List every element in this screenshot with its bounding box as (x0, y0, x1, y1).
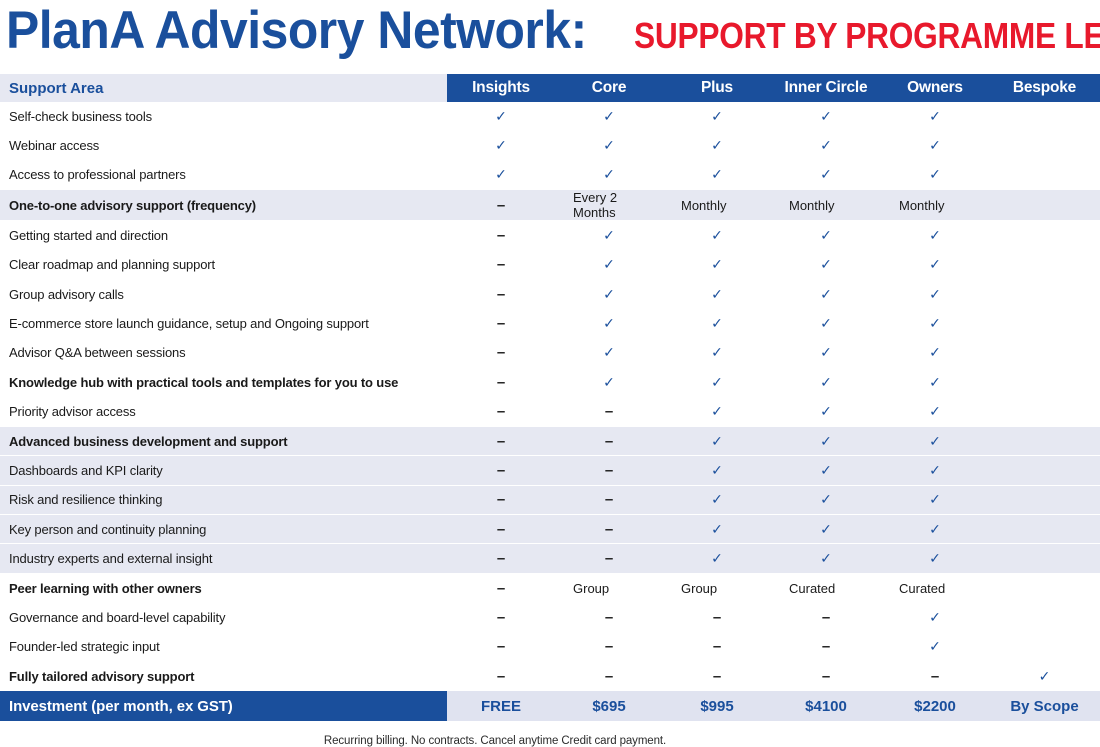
cell-inner-circle: – (771, 603, 881, 632)
row-label: Risk and resilience thinking (0, 485, 447, 514)
cell-plus: Group (663, 573, 771, 602)
check-icon: ✓ (711, 521, 723, 537)
dash-icon: – (497, 491, 505, 508)
dash-icon: – (497, 462, 505, 479)
check-icon: ✓ (820, 433, 832, 449)
check-icon: ✓ (820, 256, 832, 272)
table-row: Founder-led strategic input––––✓ (0, 632, 1100, 661)
cell-bespoke (989, 456, 1100, 485)
check-icon: ✓ (820, 108, 832, 124)
check-icon: ✓ (711, 550, 723, 566)
price-owners: $2200 (881, 691, 989, 722)
table-row: Knowledge hub with practical tools and t… (0, 368, 1100, 397)
cell-core: – (555, 603, 663, 632)
check-icon: ✓ (1039, 668, 1051, 684)
investment-row: Investment (per month, ex GST)FREE$695$9… (0, 691, 1100, 722)
column-header-inner-circle: Inner Circle (771, 74, 881, 102)
cell-inner-circle: ✓ (771, 160, 881, 189)
dash-icon: – (713, 668, 721, 685)
row-label: Knowledge hub with practical tools and t… (0, 368, 447, 397)
cell-owners: ✓ (881, 368, 989, 397)
table-row: Advisor Q&A between sessions–✓✓✓✓ (0, 338, 1100, 367)
cell-inner-circle: ✓ (771, 485, 881, 514)
check-icon: ✓ (929, 166, 941, 182)
dash-icon: – (605, 462, 613, 479)
check-icon: ✓ (929, 491, 941, 507)
row-label: Governance and board-level capability (0, 603, 447, 632)
cell-inner-circle: ✓ (771, 102, 881, 131)
check-icon: ✓ (711, 403, 723, 419)
column-header-owners: Owners (881, 74, 989, 102)
row-label: Access to professional partners (0, 160, 447, 189)
dash-icon: – (497, 256, 505, 273)
dash-icon: – (497, 344, 505, 361)
cell-core: ✓ (555, 221, 663, 250)
table-row: Risk and resilience thinking––✓✓✓ (0, 485, 1100, 514)
cell-bespoke (989, 368, 1100, 397)
cell-owners: Curated (881, 573, 989, 602)
cell-insights: – (447, 485, 555, 514)
check-icon: ✓ (820, 137, 832, 153)
cell-owners: ✓ (881, 131, 989, 160)
cell-plus: ✓ (663, 131, 771, 160)
dash-icon: – (822, 668, 830, 685)
cell-owners: ✓ (881, 544, 989, 573)
table-row: Key person and continuity planning––✓✓✓ (0, 515, 1100, 544)
cell-owners: ✓ (881, 338, 989, 367)
table-row: Fully tailored advisory support–––––✓ (0, 662, 1100, 691)
check-icon: ✓ (820, 166, 832, 182)
row-label: Fully tailored advisory support (0, 662, 447, 691)
table-row: Getting started and direction–✓✓✓✓ (0, 221, 1100, 250)
check-icon: ✓ (820, 491, 832, 507)
price-plus: $995 (663, 691, 771, 722)
dash-icon: – (822, 609, 830, 626)
check-icon: ✓ (495, 166, 507, 182)
check-icon: ✓ (603, 166, 615, 182)
dash-icon: – (497, 638, 505, 655)
table-row: Clear roadmap and planning support–✓✓✓✓ (0, 250, 1100, 279)
cell-inner-circle: ✓ (771, 221, 881, 250)
check-icon: ✓ (603, 137, 615, 153)
check-icon: ✓ (603, 315, 615, 331)
table-row: Advanced business development and suppor… (0, 426, 1100, 455)
table-row: Self-check business tools✓✓✓✓✓ (0, 102, 1100, 131)
column-header-plus: Plus (663, 74, 771, 102)
cell-core: ✓ (555, 368, 663, 397)
table-row: Dashboards and KPI clarity––✓✓✓ (0, 456, 1100, 485)
cell-core: ✓ (555, 160, 663, 189)
check-icon: ✓ (711, 227, 723, 243)
cell-insights: – (447, 279, 555, 308)
row-label: Clear roadmap and planning support (0, 250, 447, 279)
cell-core: – (555, 397, 663, 426)
cell-bespoke (989, 250, 1100, 279)
check-icon: ✓ (820, 403, 832, 419)
dash-icon: – (497, 521, 505, 538)
check-icon: ✓ (820, 286, 832, 302)
cell-plus: – (663, 632, 771, 661)
row-label: E-commerce store launch guidance, setup … (0, 309, 447, 338)
row-label: Founder-led strategic input (0, 632, 447, 661)
check-icon: ✓ (711, 256, 723, 272)
cell-owners: ✓ (881, 426, 989, 455)
check-icon: ✓ (929, 374, 941, 390)
cell-insights: – (447, 338, 555, 367)
dash-icon: – (497, 550, 505, 567)
cell-insights: – (447, 426, 555, 455)
cell-core: ✓ (555, 279, 663, 308)
check-icon: ✓ (603, 227, 615, 243)
cell-inner-circle: ✓ (771, 368, 881, 397)
check-icon: ✓ (929, 137, 941, 153)
cell-bespoke (989, 279, 1100, 308)
cell-core: – (555, 426, 663, 455)
billing-footnote: Recurring billing. No contracts. Cancel … (0, 735, 1100, 747)
cell-owners: ✓ (881, 221, 989, 250)
title-main-text: PlanA Advisory Network: (6, 4, 587, 57)
check-icon: ✓ (603, 108, 615, 124)
check-icon: ✓ (711, 137, 723, 153)
check-icon: ✓ (929, 521, 941, 537)
check-icon: ✓ (711, 344, 723, 360)
cell-bespoke (989, 102, 1100, 131)
dash-icon: – (605, 521, 613, 538)
cell-owners: Monthly (881, 190, 989, 221)
row-label: Industry experts and external insight (0, 544, 447, 573)
check-icon: ✓ (711, 315, 723, 331)
dash-icon: – (497, 374, 505, 391)
dash-icon: – (497, 668, 505, 685)
row-label: Advanced business development and suppor… (0, 426, 447, 455)
cell-owners: ✓ (881, 102, 989, 131)
check-icon: ✓ (820, 550, 832, 566)
cell-plus: ✓ (663, 397, 771, 426)
cell-insights: ✓ (447, 102, 555, 131)
column-header-bespoke: Bespoke (989, 74, 1100, 102)
price-inner-circle: $4100 (771, 691, 881, 722)
cell-owners: ✓ (881, 485, 989, 514)
dash-icon: – (497, 197, 505, 214)
row-label: Webinar access (0, 131, 447, 160)
cell-insights: – (447, 573, 555, 602)
cell-insights: – (447, 544, 555, 573)
cell-core: – (555, 515, 663, 544)
table-row: Webinar access✓✓✓✓✓ (0, 131, 1100, 160)
cell-bespoke (989, 603, 1100, 632)
check-icon: ✓ (711, 108, 723, 124)
cell-plus: – (663, 662, 771, 691)
dash-icon: – (497, 609, 505, 626)
check-icon: ✓ (495, 137, 507, 153)
cell-insights: – (447, 190, 555, 221)
column-header-support-area: Support Area (0, 74, 447, 102)
row-label: Advisor Q&A between sessions (0, 338, 447, 367)
check-icon: ✓ (929, 550, 941, 566)
cell-insights: – (447, 309, 555, 338)
cell-inner-circle: ✓ (771, 544, 881, 573)
cell-bespoke (989, 131, 1100, 160)
check-icon: ✓ (711, 491, 723, 507)
cell-insights: – (447, 603, 555, 632)
cell-inner-circle: Curated (771, 573, 881, 602)
cell-owners: ✓ (881, 279, 989, 308)
cell-insights: – (447, 250, 555, 279)
cell-core: ✓ (555, 338, 663, 367)
dash-icon: – (605, 550, 613, 567)
cell-inner-circle: ✓ (771, 515, 881, 544)
cell-bespoke (989, 221, 1100, 250)
price-insights: FREE (447, 691, 555, 722)
cell-bespoke (989, 632, 1100, 661)
price-bespoke: By Scope (989, 691, 1100, 722)
check-icon: ✓ (711, 374, 723, 390)
cell-bespoke (989, 485, 1100, 514)
dash-icon: – (605, 433, 613, 450)
row-label: Peer learning with other owners (0, 573, 447, 602)
cell-insights: – (447, 632, 555, 661)
dash-icon: – (497, 433, 505, 450)
check-icon: ✓ (929, 315, 941, 331)
dash-icon: – (713, 638, 721, 655)
cell-insights: – (447, 515, 555, 544)
cell-bespoke (989, 309, 1100, 338)
dash-icon: – (822, 638, 830, 655)
cell-inner-circle: ✓ (771, 279, 881, 308)
cell-inner-circle: – (771, 632, 881, 661)
check-icon: ✓ (929, 609, 941, 625)
check-icon: ✓ (929, 256, 941, 272)
cell-insights: ✓ (447, 131, 555, 160)
cell-plus: ✓ (663, 279, 771, 308)
row-label: Group advisory calls (0, 279, 447, 308)
check-icon: ✓ (820, 462, 832, 478)
cell-owners: ✓ (881, 160, 989, 189)
dash-icon: – (497, 580, 505, 597)
cell-plus: ✓ (663, 368, 771, 397)
row-label: One-to-one advisory support (frequency) (0, 190, 447, 221)
cell-plus: ✓ (663, 102, 771, 131)
row-label: Getting started and direction (0, 221, 447, 250)
check-icon: ✓ (603, 374, 615, 390)
cell-plus: ✓ (663, 250, 771, 279)
table-row: Governance and board-level capability–––… (0, 603, 1100, 632)
header-row: Support Area Insights Core Plus Inner Ci… (0, 74, 1100, 102)
cell-plus: ✓ (663, 515, 771, 544)
cell-bespoke (989, 160, 1100, 189)
check-icon: ✓ (820, 521, 832, 537)
cell-inner-circle: ✓ (771, 250, 881, 279)
cell-plus: ✓ (663, 160, 771, 189)
check-icon: ✓ (603, 286, 615, 302)
cell-owners: ✓ (881, 456, 989, 485)
cell-core: Group (555, 573, 663, 602)
table-body: Self-check business tools✓✓✓✓✓Webinar ac… (0, 102, 1100, 721)
cell-core: – (555, 544, 663, 573)
table-row: Group advisory calls–✓✓✓✓ (0, 279, 1100, 308)
cell-owners: ✓ (881, 397, 989, 426)
column-header-insights: Insights (447, 74, 555, 102)
cell-core: ✓ (555, 250, 663, 279)
investment-label: Investment (per month, ex GST) (0, 691, 447, 722)
cell-bespoke (989, 397, 1100, 426)
dash-icon: – (713, 609, 721, 626)
cell-inner-circle: ✓ (771, 309, 881, 338)
cell-bespoke (989, 426, 1100, 455)
cell-plus: Monthly (663, 190, 771, 221)
dash-icon: – (497, 286, 505, 303)
check-icon: ✓ (603, 344, 615, 360)
check-icon: ✓ (711, 462, 723, 478)
cell-bespoke: ✓ (989, 662, 1100, 691)
table-row: E-commerce store launch guidance, setup … (0, 309, 1100, 338)
cell-core: – (555, 485, 663, 514)
check-icon: ✓ (603, 256, 615, 272)
check-icon: ✓ (711, 433, 723, 449)
check-icon: ✓ (929, 108, 941, 124)
table-row: Industry experts and external insight––✓… (0, 544, 1100, 573)
page-title: PlanA Advisory Network: SUPPORT BY PROGR… (0, 0, 1100, 74)
check-icon: ✓ (929, 227, 941, 243)
cell-plus: ✓ (663, 544, 771, 573)
cell-insights: – (447, 221, 555, 250)
cell-bespoke (989, 338, 1100, 367)
price-core: $695 (555, 691, 663, 722)
dash-icon: – (605, 668, 613, 685)
dash-icon: – (605, 609, 613, 626)
cell-insights: – (447, 662, 555, 691)
cell-plus: – (663, 603, 771, 632)
cell-owners: ✓ (881, 250, 989, 279)
table-row: Access to professional partners✓✓✓✓✓ (0, 160, 1100, 189)
cell-inner-circle: ✓ (771, 338, 881, 367)
check-icon: ✓ (929, 286, 941, 302)
comparison-table-page: PlanA Advisory Network: SUPPORT BY PROGR… (0, 0, 1100, 742)
cell-core: – (555, 632, 663, 661)
check-icon: ✓ (711, 286, 723, 302)
cell-core: – (555, 456, 663, 485)
dash-icon: – (605, 638, 613, 655)
check-icon: ✓ (929, 462, 941, 478)
cell-core: ✓ (555, 309, 663, 338)
cell-inner-circle: Monthly (771, 190, 881, 221)
check-icon: ✓ (495, 108, 507, 124)
table-row: Priority advisor access––✓✓✓ (0, 397, 1100, 426)
check-icon: ✓ (820, 227, 832, 243)
check-icon: ✓ (820, 315, 832, 331)
cell-plus: ✓ (663, 221, 771, 250)
cell-bespoke (989, 515, 1100, 544)
row-label: Dashboards and KPI clarity (0, 456, 447, 485)
title-subtitle-text: SUPPORT BY PROGRAMME LEVEL (634, 18, 1100, 54)
row-label: Priority advisor access (0, 397, 447, 426)
cell-core: – (555, 662, 663, 691)
cell-plus: ✓ (663, 456, 771, 485)
cell-plus: ✓ (663, 338, 771, 367)
check-icon: ✓ (711, 166, 723, 182)
cell-owners: ✓ (881, 309, 989, 338)
cell-owners: ✓ (881, 515, 989, 544)
row-label: Key person and continuity planning (0, 515, 447, 544)
cell-inner-circle: ✓ (771, 456, 881, 485)
row-label: Self-check business tools (0, 102, 447, 131)
cell-owners: – (881, 662, 989, 691)
check-icon: ✓ (820, 344, 832, 360)
table-row: Peer learning with other owners–GroupGro… (0, 573, 1100, 602)
check-icon: ✓ (929, 403, 941, 419)
cell-bespoke (989, 573, 1100, 602)
cell-bespoke (989, 190, 1100, 221)
cell-plus: ✓ (663, 309, 771, 338)
cell-core: ✓ (555, 131, 663, 160)
cell-inner-circle: ✓ (771, 397, 881, 426)
check-icon: ✓ (929, 433, 941, 449)
cell-owners: ✓ (881, 603, 989, 632)
cell-inner-circle: ✓ (771, 426, 881, 455)
cell-insights: ✓ (447, 160, 555, 189)
cell-core: ✓ (555, 102, 663, 131)
dash-icon: – (497, 403, 505, 420)
cell-insights: – (447, 368, 555, 397)
cell-owners: ✓ (881, 632, 989, 661)
dash-icon: – (497, 315, 505, 332)
cell-inner-circle: ✓ (771, 131, 881, 160)
dash-icon: – (497, 227, 505, 244)
table-header: Support Area Insights Core Plus Inner Ci… (0, 74, 1100, 102)
cell-insights: – (447, 456, 555, 485)
cell-inner-circle: – (771, 662, 881, 691)
dash-icon: – (605, 403, 613, 420)
cell-core: Every 2 Months (555, 190, 663, 221)
cell-plus: ✓ (663, 485, 771, 514)
dash-icon: – (931, 668, 939, 685)
column-header-core: Core (555, 74, 663, 102)
dash-icon: – (605, 491, 613, 508)
check-icon: ✓ (929, 638, 941, 654)
cell-insights: – (447, 397, 555, 426)
check-icon: ✓ (929, 344, 941, 360)
programme-comparison-table: Support Area Insights Core Plus Inner Ci… (0, 74, 1100, 721)
table-row: One-to-one advisory support (frequency)–… (0, 190, 1100, 221)
cell-bespoke (989, 544, 1100, 573)
check-icon: ✓ (820, 374, 832, 390)
cell-plus: ✓ (663, 426, 771, 455)
